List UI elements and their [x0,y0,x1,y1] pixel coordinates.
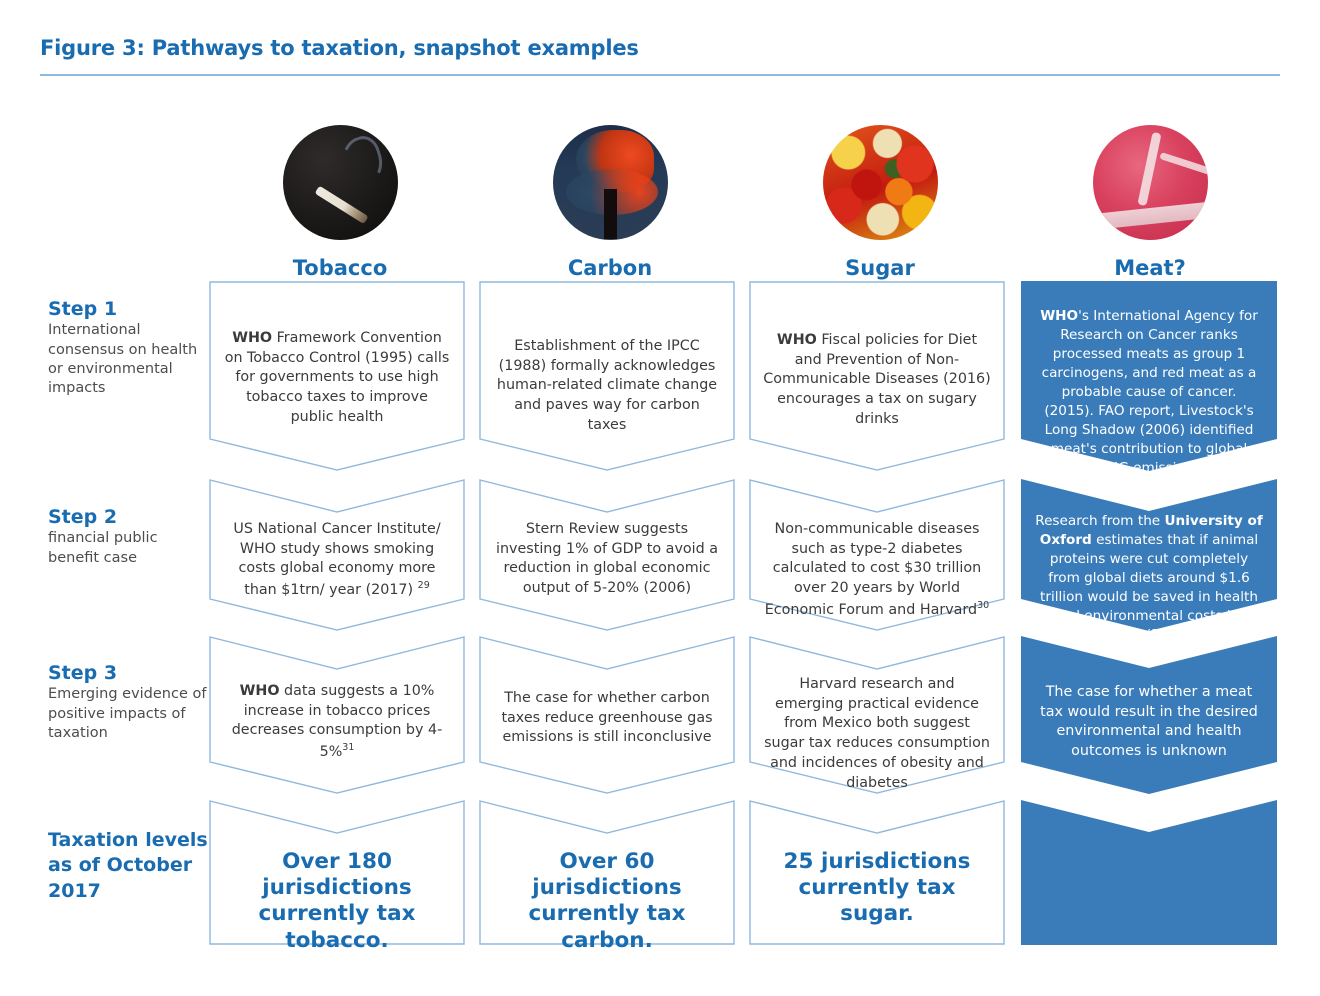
row-title-step-2: Step 2 [48,506,213,528]
smokestack-photo-icon [553,125,668,240]
row-title-taxation-levels: Taxation levels as of October 2017 [48,828,213,904]
column-header-tobacco: Tobacco [205,125,475,280]
cell-step3-tobacco: WHO data suggests a 10% increase in toba… [209,636,465,794]
cell-step2-carbon: Stern Review suggests investing 1% of GD… [479,479,735,631]
candy-photo-icon [823,125,938,240]
row-label-step-1: Step 1 International consensus on health… [48,298,213,399]
cell-step2-meat: Research from the University of Oxford e… [1021,479,1277,631]
column-label-sugar: Sugar [745,256,1015,280]
cell-text: Non-communicable diseases such as type-2… [763,520,991,620]
cell-text: WHO's International Agency for Research … [1035,307,1263,478]
row-label-step-3: Step 3 Emerging evidence of positive imp… [48,662,213,743]
cell-text: WHO Fiscal policies for Diet and Prevent… [763,331,991,430]
row-desc-step-2: financial public benefit case [48,529,213,568]
box-filled-shape [1021,800,1277,945]
cell-text: Research from the University of Oxford e… [1035,512,1263,645]
row-title-step-3: Step 3 [48,662,213,684]
column-header-meat: Meat? [1015,125,1285,280]
row-label-step-2: Step 2 financial public benefit case [48,506,213,568]
column-label-meat: Meat? [1015,256,1285,280]
cell-levels-tobacco: Over 180 jurisdictions currently tax tob… [209,800,465,945]
cell-step1-tobacco: WHO Framework Convention on Tobacco Cont… [209,281,465,471]
cell-text: WHO data suggests a 10% increase in toba… [223,682,451,763]
cell-step3-sugar: Harvard research and emerging practical … [749,636,1005,794]
cell-text: The case for whether a meat tax would re… [1035,683,1263,762]
cell-step2-sugar: Non-communicable diseases such as type-2… [749,479,1005,631]
cigarette-photo-icon [283,125,398,240]
cell-levels-meat [1021,800,1277,945]
cell-text: Over 60 jurisdictions currently tax carb… [493,849,721,954]
page-title: Figure 3: Pathways to taxation, snapshot… [40,36,639,60]
cell-text: Harvard research and emerging practical … [763,675,991,793]
column-label-carbon: Carbon [475,256,745,280]
row-label-taxation-levels: Taxation levels as of October 2017 [48,828,213,904]
column-header-sugar: Sugar [745,125,1015,280]
cell-step3-meat: The case for whether a meat tax would re… [1021,636,1277,794]
cell-text: Stern Review suggests investing 1% of GD… [493,520,721,599]
cell-text: 25 jurisdictions currently tax sugar. [763,849,991,928]
cell-levels-sugar: 25 jurisdictions currently tax sugar. [749,800,1005,945]
cell-step1-meat: WHO's International Agency for Research … [1021,281,1277,471]
row-desc-step-3: Emerging evidence of positive impacts of… [48,685,213,743]
column-label-tobacco: Tobacco [205,256,475,280]
cell-step2-tobacco: US National Cancer Institute/ WHO study … [209,479,465,631]
cell-text: US National Cancer Institute/ WHO study … [223,520,451,601]
cell-text: Over 180 jurisdictions currently tax tob… [223,849,451,954]
cell-levels-carbon: Over 60 jurisdictions currently tax carb… [479,800,735,945]
column-header-carbon: Carbon [475,125,745,280]
cell-step3-carbon: The case for whether carbon taxes reduce… [479,636,735,794]
cell-step1-carbon: Establishment of the IPCC (1988) formall… [479,281,735,471]
title-divider [40,74,1280,76]
cell-step1-sugar: WHO Fiscal policies for Diet and Prevent… [749,281,1005,471]
cell-text: The case for whether carbon taxes reduce… [493,689,721,748]
cell-text: WHO Framework Convention on Tobacco Cont… [223,329,451,428]
row-title-step-1: Step 1 [48,298,213,320]
row-desc-step-1: International consensus on health or env… [48,321,213,398]
raw-meat-photo-icon [1093,125,1208,240]
cell-text: Establishment of the IPCC (1988) formall… [493,337,721,436]
